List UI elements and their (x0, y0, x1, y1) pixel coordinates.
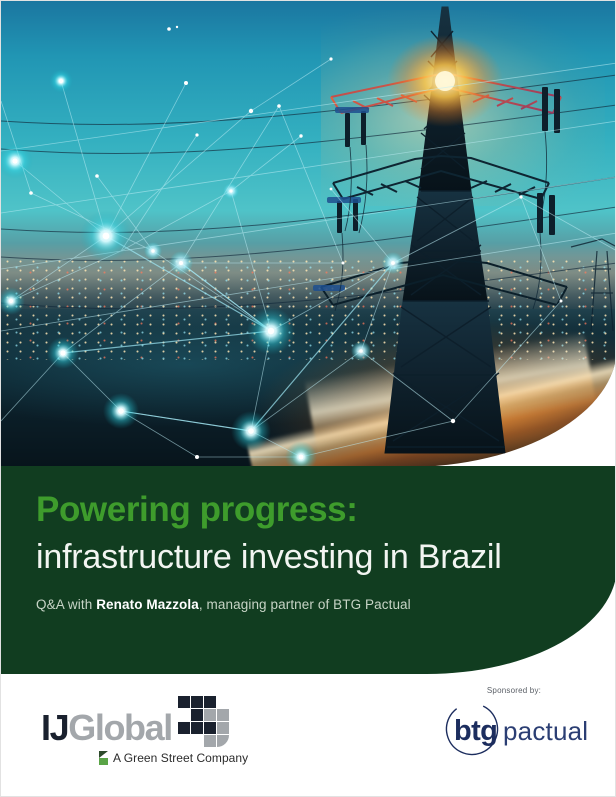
ijglobal-wordmark: IJGlobal (41, 710, 172, 746)
sponsor-block: Sponsored by: btg pactual (429, 686, 599, 759)
green-leaf-icon (99, 751, 108, 765)
footer: IJGlobal (1, 674, 616, 796)
ijglobal-name-part1: IJ (41, 707, 68, 748)
title-band: Powering progress: infrastructure invest… (1, 466, 616, 674)
svg-text:btg: btg (454, 715, 497, 747)
publisher-logo-ijglobal: IJGlobal (41, 696, 301, 765)
publisher-tagline-text: A Green Street Company (113, 751, 248, 765)
byline-person-name: Renato Mazzola (96, 597, 199, 612)
byline-prefix: Q&A with (36, 597, 96, 612)
publisher-tagline: A Green Street Company (99, 751, 301, 765)
btg-circle-icon: btg pactual (439, 699, 589, 759)
svg-text:pactual: pactual (503, 716, 588, 746)
report-cover-page: Powering progress: infrastructure invest… (0, 0, 616, 797)
sponsored-by-label: Sponsored by: (429, 686, 599, 695)
sponsor-logo-btg-pactual: btg pactual (439, 699, 589, 759)
page-title-secondary: infrastructure investing in Brazil (36, 540, 587, 574)
byline: Q&A with Renato Mazzola, managing partne… (36, 597, 587, 612)
byline-suffix: , managing partner of BTG Pactual (199, 597, 411, 612)
page-title-primary: Powering progress: (36, 492, 587, 527)
ijglobal-name-part2: Global (68, 707, 172, 748)
checker-grid-mark-icon (178, 696, 226, 744)
network-overlay-graphic (1, 1, 616, 467)
hero-image (1, 1, 616, 467)
